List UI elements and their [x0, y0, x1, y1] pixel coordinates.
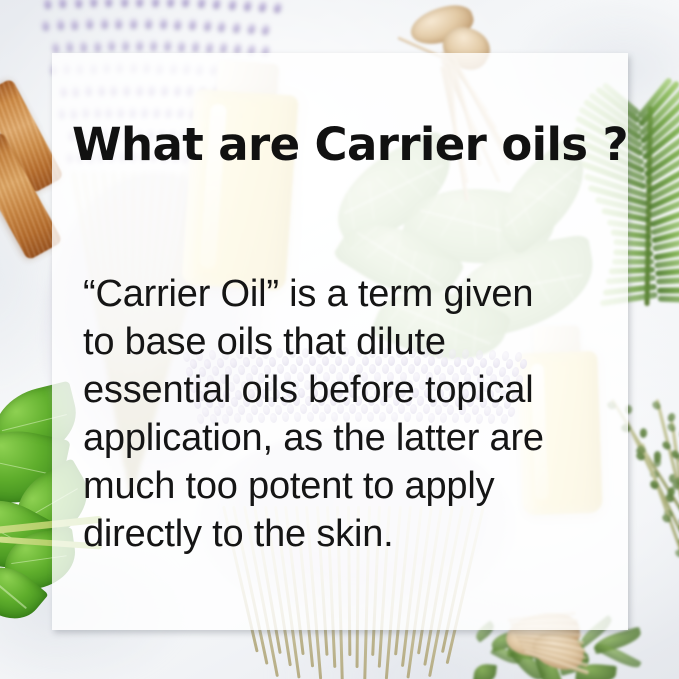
lavender-bud: [100, 19, 108, 29]
body-line-1: “Carrier Oil” is a term given: [83, 270, 613, 318]
body-line-5: much too potent to apply: [83, 462, 613, 510]
lavender-bud: [121, 0, 128, 7]
thyme-leaf: [666, 422, 677, 433]
body-line-6: directly to the skin.: [83, 510, 613, 558]
rosemary-needle: [657, 287, 679, 293]
lavender-bud: [93, 41, 101, 52]
infographic-image: What are Carrier oils ? “Carrier Oil” is…: [0, 0, 679, 679]
mint-leaf-vein: [0, 457, 52, 474]
lavender-bud: [122, 41, 129, 51]
mint-leaf-vein: [0, 576, 27, 609]
body-line-4: application, as the latter are: [83, 414, 613, 462]
rosemary-needle: [656, 277, 679, 286]
body-line-3: essential oils before topical: [83, 366, 613, 414]
lavender-bud: [145, 19, 152, 29]
page-title: What are Carrier oils ?: [72, 122, 628, 167]
lavender-bud: [151, 0, 158, 7]
lavender-bud: [136, 41, 143, 51]
body-paragraph: “Carrier Oil” is a term givento base oil…: [83, 270, 613, 558]
herb-leaf: [473, 663, 497, 679]
lavender-bud: [79, 42, 87, 53]
thyme-leaf: [673, 548, 679, 559]
rosemary-needle: [658, 296, 679, 304]
body-line-2: to base oils that dilute: [83, 318, 613, 366]
lavender-bud: [130, 19, 137, 29]
lavender-bud: [159, 19, 167, 29]
thyme-leaf: [640, 429, 648, 439]
